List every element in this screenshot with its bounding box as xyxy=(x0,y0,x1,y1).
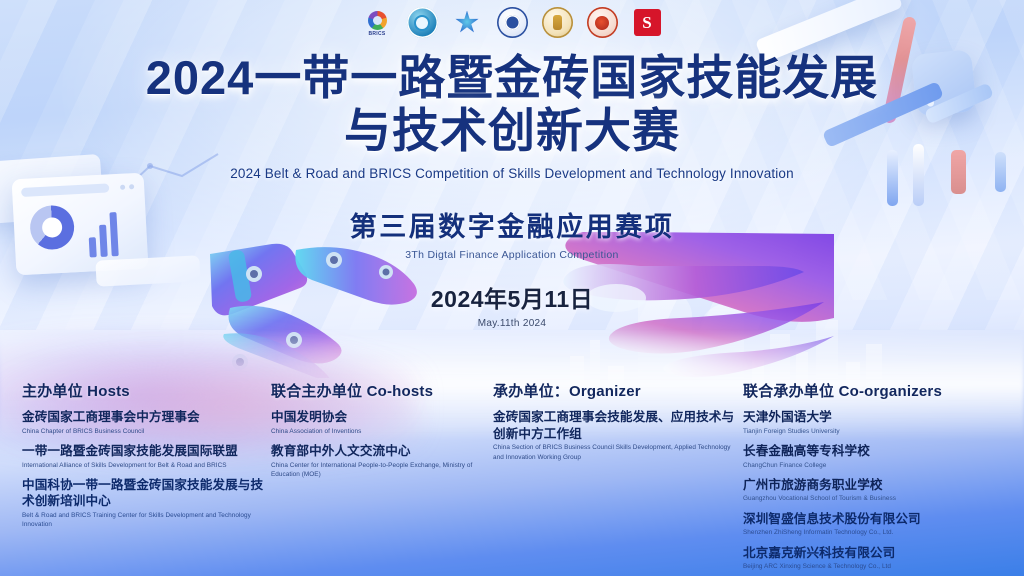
subtitle-english: 3Th Digtal Finance Application Competiti… xyxy=(0,249,1024,261)
organization-entry: 长春金融高等专科学校 ChangChun Finance College xyxy=(743,443,1024,470)
organization-name-en: China Chapter of BRICS Business Council xyxy=(22,427,268,436)
coorganizers-column: 联合承办单位 Co-organizers 天津外国语大学 Tianjin For… xyxy=(743,380,1024,576)
organization-name-cn: 长春金融高等专科学校 xyxy=(743,443,1024,460)
red-brand-mark-letter: S xyxy=(634,9,661,36)
event-date-english: May.11th 2024 xyxy=(0,318,1024,329)
organization-name-cn: 中国发明协会 xyxy=(271,409,493,426)
organization-name-cn: 教育部中外人文交流中心 xyxy=(271,443,493,460)
organization-entry: 金砖国家工商理事会技能发展、应用技术与创新中方工作组 China Section… xyxy=(493,409,743,462)
organizer-column-heading: 承办单位：Organizer xyxy=(493,380,743,401)
organization-name-cn: 深圳智盛信息技术股份有限公司 xyxy=(743,511,1024,528)
globe-emblem-logo xyxy=(407,7,438,38)
organization-name-cn: 金砖国家工商理事会技能发展、应用技术与创新中方工作组 xyxy=(493,409,743,442)
red-circular-seal-logo xyxy=(587,7,618,38)
organization-name-en: China Association of Inventions xyxy=(271,427,493,436)
main-title-english: 2024 Belt & Road and BRICS Competition o… xyxy=(0,166,1024,181)
organization-name-en: China Center for International People-to… xyxy=(271,461,493,480)
logo-row: BRICS S xyxy=(0,7,1024,38)
organization-name-en: Beijing ARC Xinxing Science & Technology… xyxy=(743,562,1024,571)
cohosts-column-heading: 联合主办单位 Co-hosts xyxy=(271,380,493,401)
red-square-brand-logo: S xyxy=(632,7,663,38)
organization-name-en: Tianjin Foreign Studies University xyxy=(743,427,1024,436)
hosts-column: 主办单位 Hosts 金砖国家工商理事会中方理事会 China Chapter … xyxy=(0,380,268,576)
cohosts-column: 联合主办单位 Co-hosts 中国发明协会 China Association… xyxy=(268,380,493,576)
organization-name-cn: 广州市旅游商务职业学校 xyxy=(743,477,1024,494)
organization-entry: 天津外国语大学 Tianjin Foreign Studies Universi… xyxy=(743,409,1024,436)
organization-entry: 一带一路暨金砖国家技能发展国际联盟 International Alliance… xyxy=(22,443,268,470)
organizer-column: 承办单位：Organizer 金砖国家工商理事会技能发展、应用技术与创新中方工作… xyxy=(493,380,743,576)
organization-entry: 深圳智盛信息技术股份有限公司 Shenzhen ZhiSheng Informa… xyxy=(743,511,1024,538)
coorganizers-column-heading: 联合承办单位 Co-organizers xyxy=(743,380,1024,401)
organization-name-en: Shenzhen ZhiSheng Informatin Technology … xyxy=(743,528,1024,537)
circular-blue-seal-logo xyxy=(497,7,528,38)
organization-name-en: Belt & Road and BRICS Training Center fo… xyxy=(22,511,268,530)
event-date-chinese: 2024年5月11日 xyxy=(0,280,1024,314)
title-block: 2024一带一路暨金砖国家技能发展 与技术创新大赛 2024 Belt & Ro… xyxy=(0,52,1024,261)
organization-name-en: ChangChun Finance College xyxy=(743,461,1024,470)
organization-entry: 金砖国家工商理事会中方理事会 China Chapter of BRICS Bu… xyxy=(22,409,268,436)
subtitle-chinese: 第三届数字金融应用赛项 xyxy=(0,205,1024,244)
organization-name-en: Guangzhou Vocational School of Tourism &… xyxy=(743,494,1024,503)
organization-name-en: China Section of BRICS Business Council … xyxy=(493,443,743,462)
hosts-column-heading: 主办单位 Hosts xyxy=(22,380,268,401)
main-title-line2: 与技术创新大赛 xyxy=(0,105,1024,158)
competition-poster: BRICS S 2024一带一路暨金砖国家技能发展 与技术创新大赛 2024 B… xyxy=(0,0,1024,576)
organization-name-cn: 中国科协一带一路暨金砖国家技能发展与技术创新培训中心 xyxy=(22,477,268,510)
organization-name-en: International Alliance of Skills Develop… xyxy=(22,461,268,470)
event-date-block: 2024年5月11日 May.11th 2024 xyxy=(0,280,1024,329)
gold-circular-seal-logo xyxy=(542,7,573,38)
organization-name-cn: 天津外国语大学 xyxy=(743,409,1024,426)
organization-entry: 北京嘉克新兴科技有限公司 Beijing ARC Xinxing Science… xyxy=(743,545,1024,572)
organization-name-cn: 北京嘉克新兴科技有限公司 xyxy=(743,545,1024,562)
organization-name-cn: 一带一路暨金砖国家技能发展国际联盟 xyxy=(22,443,268,460)
organizations-section: 主办单位 Hosts 金砖国家工商理事会中方理事会 China Chapter … xyxy=(0,380,1024,576)
organization-entry: 中国发明协会 China Association of Inventions xyxy=(271,409,493,436)
brics-business-council-logo: BRICS xyxy=(362,7,393,38)
main-title-line1: 2024一带一路暨金砖国家技能发展 xyxy=(0,52,1024,105)
organization-name-cn: 金砖国家工商理事会中方理事会 xyxy=(22,409,268,426)
organization-entry: 教育部中外人文交流中心 China Center for Internation… xyxy=(271,443,493,479)
organization-entry: 广州市旅游商务职业学校 Guangzhou Vocational School … xyxy=(743,477,1024,504)
blue-star-emblem-logo xyxy=(452,7,483,38)
brics-logo-caption: BRICS xyxy=(362,32,393,37)
organization-entry: 中国科协一带一路暨金砖国家技能发展与技术创新培训中心 Belt & Road a… xyxy=(22,477,268,530)
